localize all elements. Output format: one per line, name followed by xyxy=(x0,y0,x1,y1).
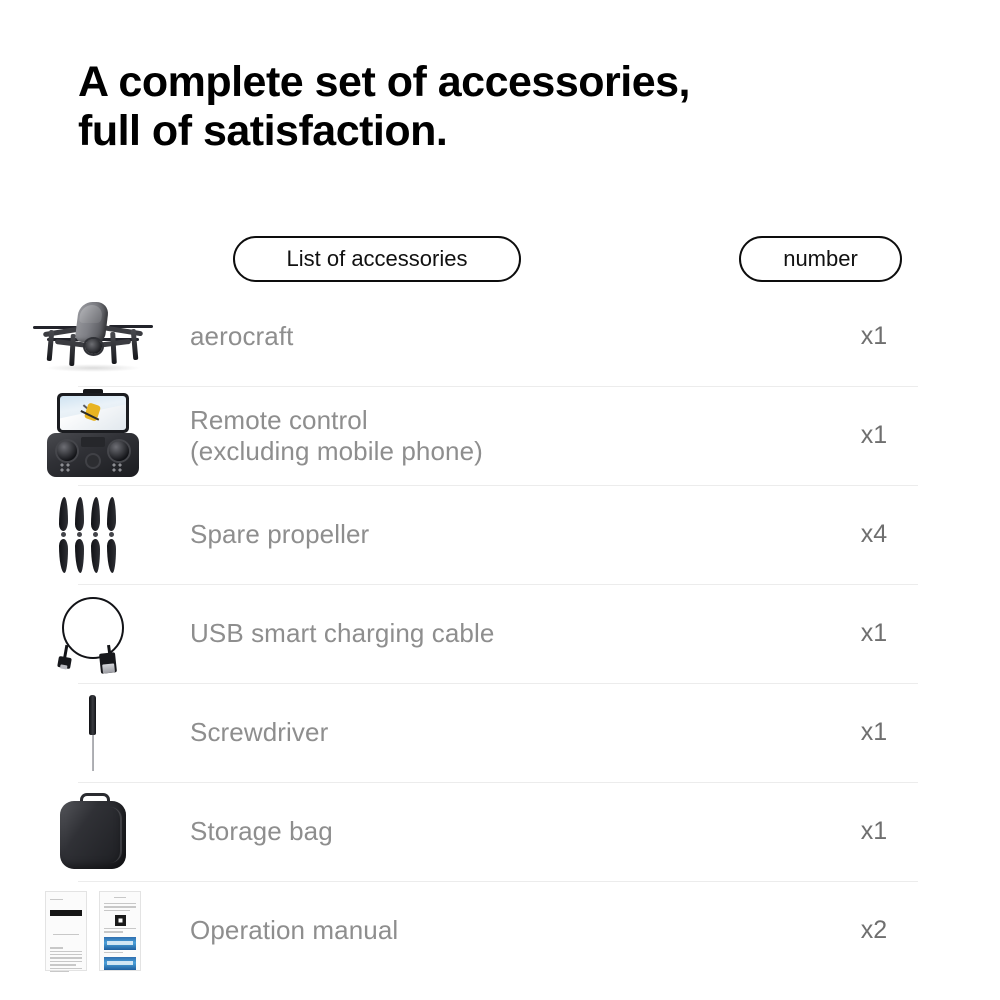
header-pill-accessories-label: List of accessories xyxy=(287,246,468,272)
table-row: Operation manual x2 xyxy=(0,881,1000,980)
page-title-line-1: A complete set of accessories, xyxy=(78,58,918,107)
table-row: aerocraft x1 xyxy=(0,287,1000,386)
row-divider xyxy=(78,683,918,684)
row-thumbnail xyxy=(0,782,186,881)
row-label: Remote control (excluding mobile phone) xyxy=(186,405,810,467)
page-title-line-2: full of satisfaction. xyxy=(78,107,918,156)
row-label: Operation manual xyxy=(186,915,810,946)
row-divider xyxy=(78,584,918,585)
row-thumbnail xyxy=(0,584,186,683)
row-label: aerocraft xyxy=(186,321,810,352)
row-label-main: Remote control xyxy=(190,405,368,435)
row-label: Spare propeller xyxy=(186,519,810,550)
row-label-sub: (excluding mobile phone) xyxy=(190,436,810,467)
row-label-main: Storage bag xyxy=(190,816,333,846)
row-label-main: Spare propeller xyxy=(190,519,369,549)
row-quantity: x1 xyxy=(810,817,1000,846)
row-label-main: Screwdriver xyxy=(190,717,328,747)
row-thumbnail xyxy=(0,485,186,584)
row-thumbnail xyxy=(0,287,186,386)
drone-icon xyxy=(33,300,153,374)
row-label: USB smart charging cable xyxy=(186,618,810,649)
row-divider xyxy=(78,881,918,882)
row-label-main: aerocraft xyxy=(190,321,294,351)
row-label-main: USB smart charging cable xyxy=(190,618,494,648)
table-row: Screwdriver x1 xyxy=(0,683,1000,782)
row-quantity: x2 xyxy=(810,916,1000,945)
header-pill-accessories: List of accessories xyxy=(233,236,521,282)
storage-bag-icon xyxy=(56,793,130,871)
header-pill-number-label: number xyxy=(783,246,858,272)
row-thumbnail xyxy=(0,386,186,485)
row-quantity: x1 xyxy=(810,421,1000,450)
table-header: List of accessories number xyxy=(0,236,1000,284)
row-label: Screwdriver xyxy=(186,717,810,748)
row-divider xyxy=(78,485,918,486)
row-thumbnail xyxy=(0,683,186,782)
manual-icon xyxy=(45,891,141,971)
row-quantity: x4 xyxy=(810,520,1000,549)
table-row: Storage bag x1 xyxy=(0,782,1000,881)
table-row: Spare propeller x4 xyxy=(0,485,1000,584)
propeller-icon xyxy=(57,497,129,573)
page-title: A complete set of accessories, full of s… xyxy=(78,58,918,156)
row-divider xyxy=(78,782,918,783)
usb-cable-icon xyxy=(52,595,134,673)
row-label-main: Operation manual xyxy=(190,915,398,945)
row-quantity: x1 xyxy=(810,718,1000,747)
table-row: USB smart charging cable x1 xyxy=(0,584,1000,683)
table-row: Remote control (excluding mobile phone) … xyxy=(0,386,1000,485)
header-pill-number: number xyxy=(739,236,902,282)
row-quantity: x1 xyxy=(810,322,1000,351)
row-thumbnail xyxy=(0,881,186,980)
screwdriver-icon xyxy=(83,693,103,773)
remote-control-icon xyxy=(45,393,141,479)
row-quantity: x1 xyxy=(810,619,1000,648)
row-label: Storage bag xyxy=(186,816,810,847)
row-divider xyxy=(78,386,918,387)
accessories-table: aerocraft x1 xyxy=(0,287,1000,980)
